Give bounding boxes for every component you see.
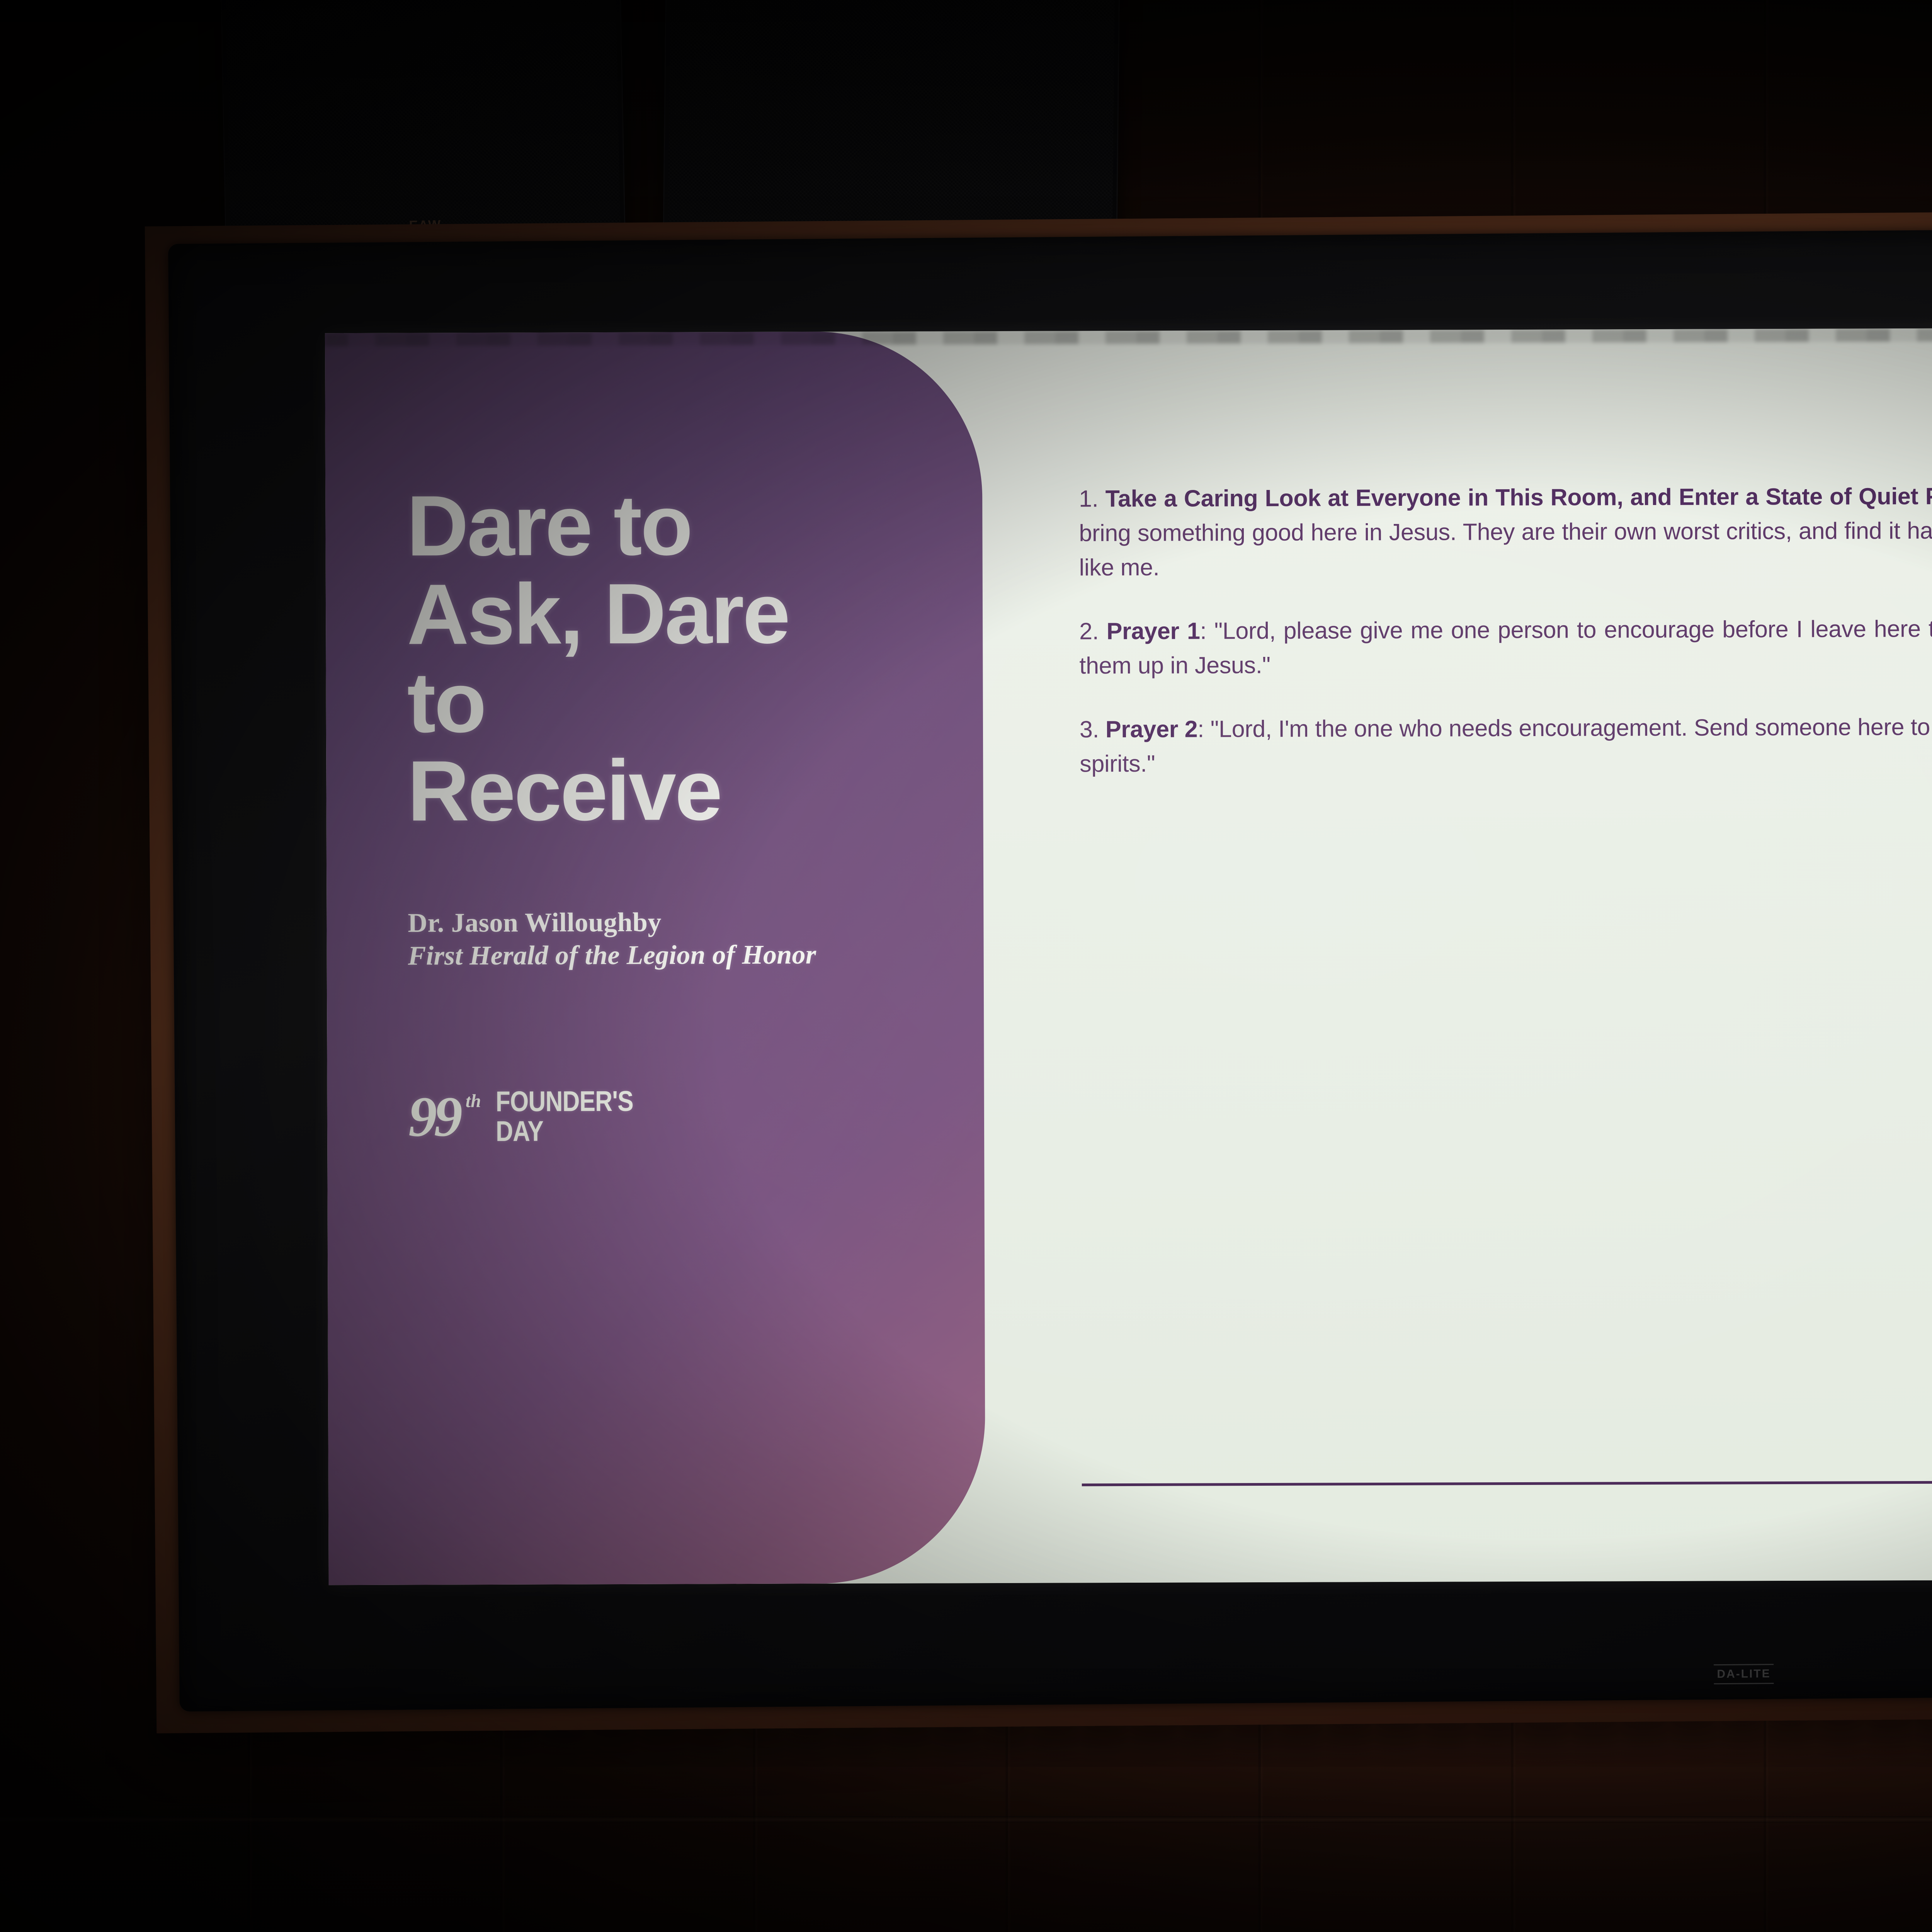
- presentation-slide: Dare to Ask, Dare to Receive Dr. Jason W…: [325, 327, 1932, 1585]
- slide-title-panel: Dare to Ask, Dare to Receive Dr. Jason W…: [325, 331, 986, 1585]
- body-item-3: 3. Prayer 2: "Lord, I'm the one who need…: [1080, 708, 1932, 781]
- title-panel-inner: Dare to Ask, Dare to Receive Dr. Jason W…: [325, 331, 984, 1145]
- footer-divider: [1082, 1480, 1932, 1486]
- body-item-1: 1. Take a Caring Look at Everyone in Thi…: [1079, 478, 1932, 585]
- speaker-grille: [668, 0, 1116, 255]
- founders-day-logo: 99 th FOUNDER'S DAY: [408, 1087, 868, 1145]
- wall-rail: [0, 1816, 1932, 1823]
- screen-brand-logo: DA-LITE: [1717, 1667, 1771, 1681]
- slide-body-panel: 1. Take a Caring Look at Everyone in Thi…: [982, 327, 1932, 1583]
- author-name: Dr. Jason Willoughby: [408, 905, 867, 940]
- founders-day-wordmark: FOUNDER'S DAY: [496, 1088, 660, 1145]
- ceiling-speaker-left: EAW EASTERN ACOUSTIC WORKS: [219, 0, 626, 257]
- founders-day-number: 99: [408, 1094, 459, 1140]
- speaker-grille: [224, 0, 621, 252]
- body-item-3-number: 3.: [1080, 716, 1099, 743]
- author-role: First Herald of the Legion of Honor: [408, 938, 868, 973]
- projection-screen-assembly: DA-LITE Dare to Ask, Dare to Receive Dr.…: [145, 206, 1932, 1733]
- body-item-3-text: : "Lord, I'm the one who needs encourage…: [1080, 712, 1932, 777]
- body-item-2-number: 2.: [1079, 618, 1099, 644]
- founders-day-line1: FOUNDER'S: [496, 1088, 633, 1115]
- founders-day-ordinal: th: [466, 1090, 481, 1112]
- founders-day-line2: DAY: [496, 1117, 633, 1145]
- screen-bezel: DA-LITE Dare to Ask, Dare to Receive Dr.…: [168, 224, 1932, 1712]
- body-item-2-text: : "Lord, please give me one person to en…: [1079, 614, 1932, 679]
- body-item-1-number: 1.: [1079, 485, 1098, 512]
- body-item-2: 2. Prayer 1: "Lord, please give me one p…: [1079, 610, 1932, 683]
- slide-title: Dare to Ask, Dare to Receive: [406, 481, 867, 835]
- author-block: Dr. Jason Willoughby First Herald of the…: [408, 905, 868, 973]
- body-item-3-heading: Prayer 2: [1105, 716, 1198, 743]
- room-background: EAW EASTERN ACOUSTIC WORKS EAW EASTERN A…: [0, 0, 1932, 1932]
- projection-surface: Dare to Ask, Dare to Receive Dr. Jason W…: [325, 327, 1932, 1585]
- body-item-1-heading: Take a Caring Look at Everyone in This R…: [1105, 483, 1932, 512]
- body-item-2-heading: Prayer 1: [1107, 618, 1200, 645]
